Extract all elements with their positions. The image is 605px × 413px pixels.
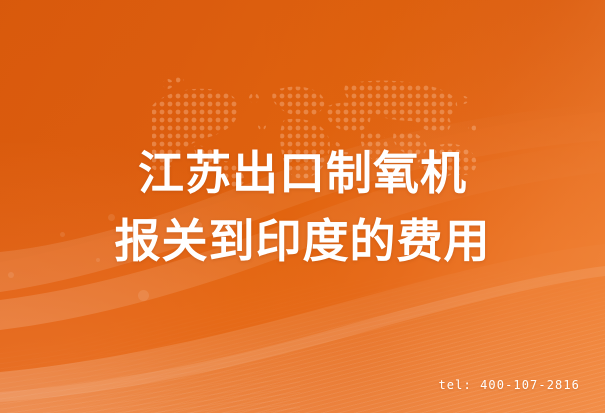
promo-banner: 江苏出口制氧机 报关到印度的费用 tel: 400-107-2816 — [0, 0, 605, 413]
headline-block: 江苏出口制氧机 报关到印度的费用 — [0, 139, 605, 275]
contact-phone-text: tel: 400-107-2816 — [438, 378, 580, 392]
headline-line-1: 江苏出口制氧机 — [0, 139, 605, 207]
headline-line-2: 报关到印度的费用 — [0, 207, 605, 275]
